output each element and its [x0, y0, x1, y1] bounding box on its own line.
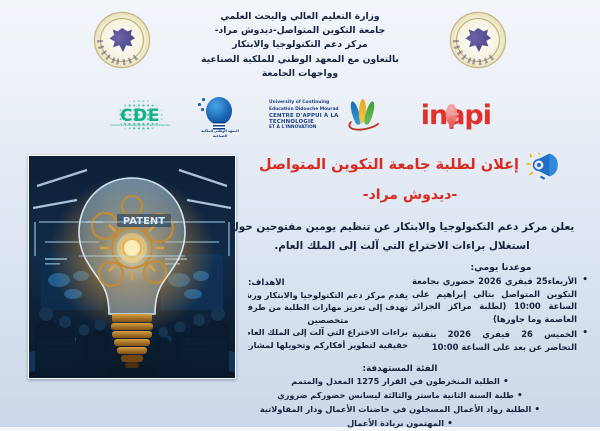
inapi-logo: inapi [413, 99, 491, 133]
ctai-logo: University of Continuing Education Didou… [269, 99, 387, 133]
header-text-block: وزارة التعليم العالي والبحث العلمي جامعة… [150, 8, 450, 81]
intro-paragraph: يعلن مركز دعم التكنولوجيا والابتكار عن ت… [212, 218, 592, 256]
objectives-line: يقدم مركز دعم التكنولوجيا والابتكار ورشت [248, 289, 408, 301]
poster-subtitle: -ديدوش مراد- [234, 184, 586, 206]
objectives-line: تهدف إلى تعزيز مهارات الطلبة من طرف أسات… [248, 301, 408, 313]
target-audience-item: الطلبة المنخرطون في القرار 1275 المعدل و… [220, 375, 580, 389]
university-seal-right [94, 12, 150, 68]
partner-logo-strip: inapi University of Continuing Education… [0, 90, 600, 142]
target-audience-item: المهتمون بريادة الأعمال [220, 417, 580, 431]
megaphone-icon [525, 150, 561, 180]
target-audience-caption: الفئة المستهدفة: [220, 364, 580, 374]
patent-lightbulb-photo: PATENT [28, 155, 236, 379]
title-row: إعلان لطلبة جامعة التكوين المتواصل [234, 150, 586, 180]
ctai-logo-text: University of Continuing Education Didou… [269, 100, 343, 131]
dates-caption: موعدنا يومي: [412, 262, 590, 273]
ctai-line-2: Education Didouche Mourad [269, 107, 343, 113]
photo-artwork: PATENT [29, 156, 235, 378]
objectives-caption: الأهداف: [248, 278, 408, 288]
ctai-flame-icon [346, 99, 380, 133]
cde-logo: CDE Centre de Développement de l'Entrepr… [109, 94, 171, 138]
ctai-line-5: ET À L'INNOVATION [269, 125, 343, 131]
objectives-line: حقيقية لتطوير أفكاركم وتحويلها لمشاريع ن… [248, 339, 408, 351]
date-item: الخميس 26 فيفري 2026 بتقنية التحاضر عن ب… [412, 328, 577, 353]
poster-title: إعلان لطلبة جامعة التكوين المتواصل [259, 154, 519, 176]
dates-section: موعدنا يومي: الأربعاء25 فيفري 2026 حضوري… [412, 262, 590, 357]
date-item: الأربعاء25 فيفري 2026 حضوري بجامعة التكو… [412, 275, 577, 325]
cde-logo-subtext: Centre de Développement de l'Entreprise [109, 123, 171, 127]
objectives-section: الأهداف: يقدم مركز دعم التكنولوجيا والاب… [248, 278, 408, 351]
poster-header: وزارة التعليم العالي والبحث العلمي جامعة… [0, 8, 600, 90]
target-audience-list: الطلبة المنخرطون في القرار 1275 المعدل و… [220, 375, 580, 431]
announcement-poster: وزارة التعليم العالي والبحث العلمي جامعة… [0, 0, 600, 427]
bulb-logo-caption: المعهد الوطني للملكية الصناعية [200, 129, 240, 138]
header-line-university: جامعة التكوين المتواصل-ديدوش مراد- [150, 24, 450, 38]
bulb-spark-dot [198, 103, 201, 106]
header-line-ministry: وزارة التعليم العالي والبحث العلمي [150, 10, 450, 24]
bulb-spark-dot [202, 98, 205, 101]
header-line-partner: بالتعاون مع المعهد الوطني للملكية الصناع… [150, 53, 450, 67]
header-line-center: مركز دعم التكنولوجيا والابتكار [150, 38, 450, 52]
poster-title-block: إعلان لطلبة جامعة التكوين المتواصل -ديدو… [234, 150, 586, 206]
bulb-spark-dot [201, 108, 204, 111]
target-audience-item: الطلبة رواد الأعمال المسجلون في حاضنات ا… [220, 403, 580, 417]
dates-list: الأربعاء25 فيفري 2026 حضوري بجامعة التكو… [412, 275, 590, 354]
target-audience-item: طلبة السنة الثانية ماستر والثالثة ليسانس… [220, 389, 580, 403]
inapi-bulb-logo: المعهد الوطني للملكية الصناعية [197, 94, 243, 138]
header-line-interfaces: وواجهات الجامعة [150, 67, 450, 81]
objectives-line: متخصصين [248, 314, 408, 326]
lightbulb-icon [206, 97, 232, 125]
target-audience-section: الفئة المستهدفة: الطلبة المنخرطون في الق… [220, 364, 580, 431]
objectives-line: براءات الاختراع التي آلت إلى الملك العام… [248, 326, 408, 338]
university-seal-left [450, 12, 506, 68]
